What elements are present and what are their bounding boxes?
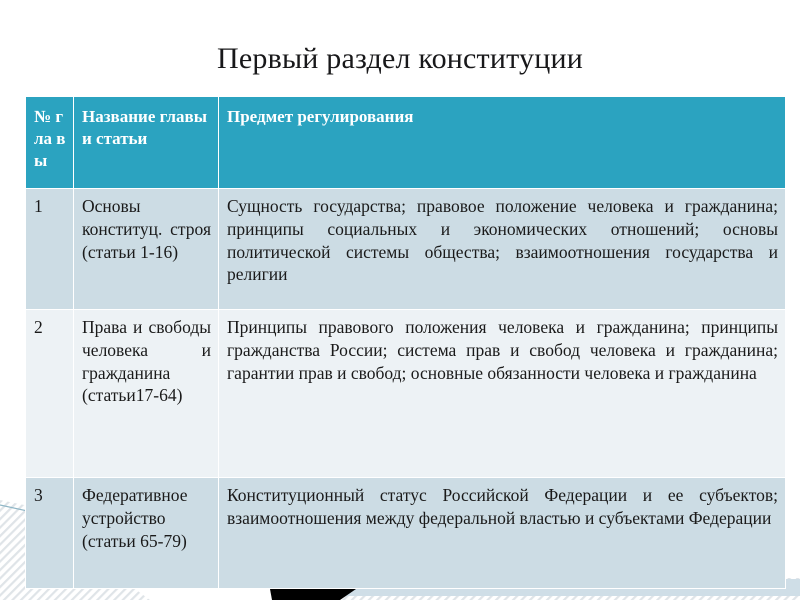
cell-chapter-name: Права и свободы человека и гражданина (с…: [74, 310, 219, 478]
constitution-sections-table: № гла вы Название главы и статьи Предмет…: [25, 96, 786, 589]
cell-chapter-name: Федеративное устройство (статьи 65-79): [74, 478, 219, 589]
table-row: 1 Основы конституц. строя (статьи 1-16) …: [26, 189, 786, 310]
column-header-subject: Предмет регулирования: [219, 97, 786, 189]
cell-chapter-number: 3: [26, 478, 74, 589]
cell-subject: Сущность государства; правовое положение…: [219, 189, 786, 310]
table-row: 3 Федеративное устройство (статьи 65-79)…: [26, 478, 786, 589]
cell-subject: Принципы правового положения человека и …: [219, 310, 786, 478]
cell-chapter-number: 1: [26, 189, 74, 310]
table-header-row: № гла вы Название главы и статьи Предмет…: [26, 97, 786, 189]
column-header-chapter-name: Название главы и статьи: [74, 97, 219, 189]
cell-chapter-name: Основы конституц. строя (статьи 1-16): [74, 189, 219, 310]
cell-subject: Конституционный статус Российской Федера…: [219, 478, 786, 589]
cell-chapter-number: 2: [26, 310, 74, 478]
table-row: 2 Права и свободы человека и гражданина …: [26, 310, 786, 478]
page-title: Первый раздел конституции: [0, 42, 800, 76]
column-header-chapter-number: № гла вы: [26, 97, 74, 189]
